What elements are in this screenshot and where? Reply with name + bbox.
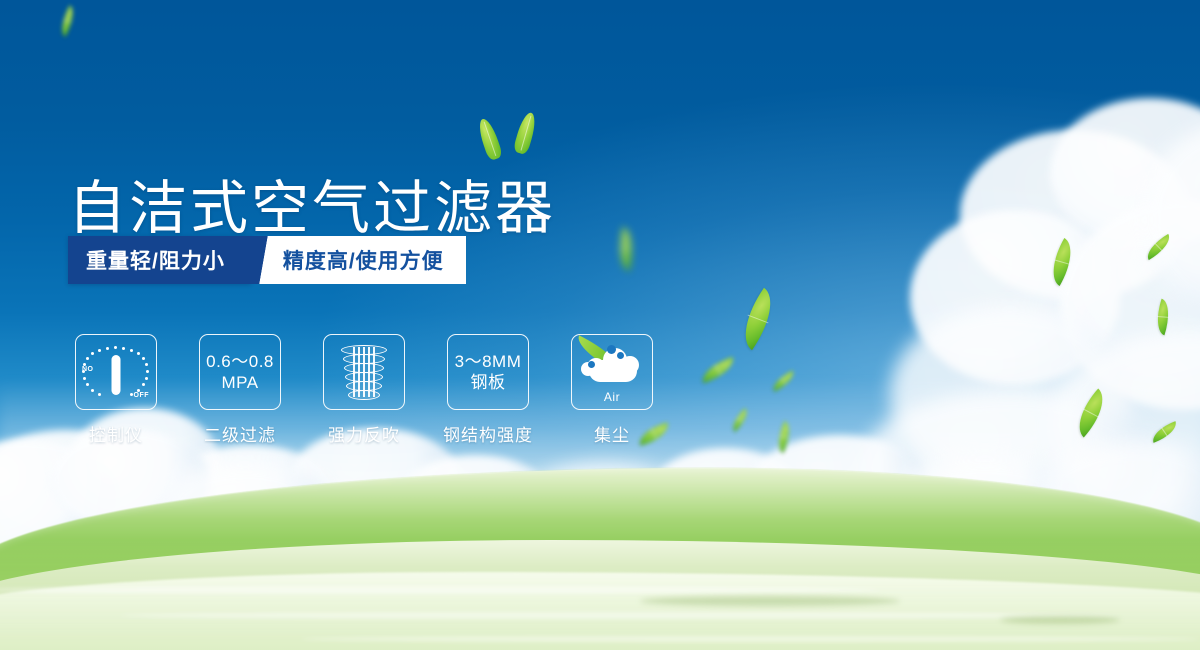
feature-label: 二级过滤 <box>204 421 276 446</box>
gauge-needle <box>112 355 121 395</box>
feature-label: 控制仪 <box>89 421 143 446</box>
pressure-text-icon-line2: MPA <box>221 372 258 393</box>
grass-shadow <box>1000 616 1120 624</box>
grass-streak <box>0 586 880 594</box>
gauge-label-off: OFF <box>134 392 150 399</box>
feature-item-dust-collection[interactable]: Air 集尘 <box>564 334 660 446</box>
air-label: Air <box>579 390 645 404</box>
product-banner: 自洁式空气过滤器 重量轻/阻力小 精度高/使用方便 NO OFF <box>0 0 1200 650</box>
blowback-filter-icon <box>335 343 393 401</box>
subtitle-right-segment: 精度高/使用方便 <box>277 236 466 284</box>
steel-plate-text-icon-line2: 钢板 <box>471 372 506 393</box>
feature-icon-box: NO OFF <box>75 334 157 410</box>
air-cloud-icon: Air <box>579 344 645 400</box>
grass-streak <box>120 612 1120 619</box>
feature-icon-box: 3～8MM 钢板 <box>447 334 529 410</box>
grass-streak <box>300 636 1200 642</box>
steel-plate-text-icon-line1: 3～8MM <box>455 351 522 372</box>
feature-icon-box <box>323 334 405 410</box>
feature-label: 集尘 <box>594 421 630 446</box>
gauge-icon: NO OFF <box>84 344 148 400</box>
feature-icon-box: 0.6～0.8 MPA <box>199 334 281 410</box>
feature-item-secondary-filter[interactable]: 0.6～0.8 MPA 二级过滤 <box>192 334 288 446</box>
pressure-text-icon-line1: 0.6～0.8 <box>206 351 274 372</box>
subtitle-bar: 重量轻/阻力小 精度高/使用方便 <box>68 236 466 284</box>
page-title: 自洁式空气过滤器 <box>68 179 556 237</box>
feature-item-steel-strength[interactable]: 3～8MM 钢板 钢结构强度 <box>440 334 536 446</box>
feature-item-blowback[interactable]: 强力反吹 <box>316 334 412 446</box>
subtitle-diagonal-divider <box>251 236 277 284</box>
feature-item-controller[interactable]: NO OFF <box>68 334 164 446</box>
feature-list: NO OFF <box>68 334 660 446</box>
subtitle-left-segment: 重量轻/阻力小 <box>68 236 251 284</box>
feature-icon-box: Air <box>571 334 653 410</box>
feature-label: 钢结构强度 <box>443 421 533 446</box>
feature-label: 强力反吹 <box>328 421 400 446</box>
grass-shadow <box>640 596 900 606</box>
